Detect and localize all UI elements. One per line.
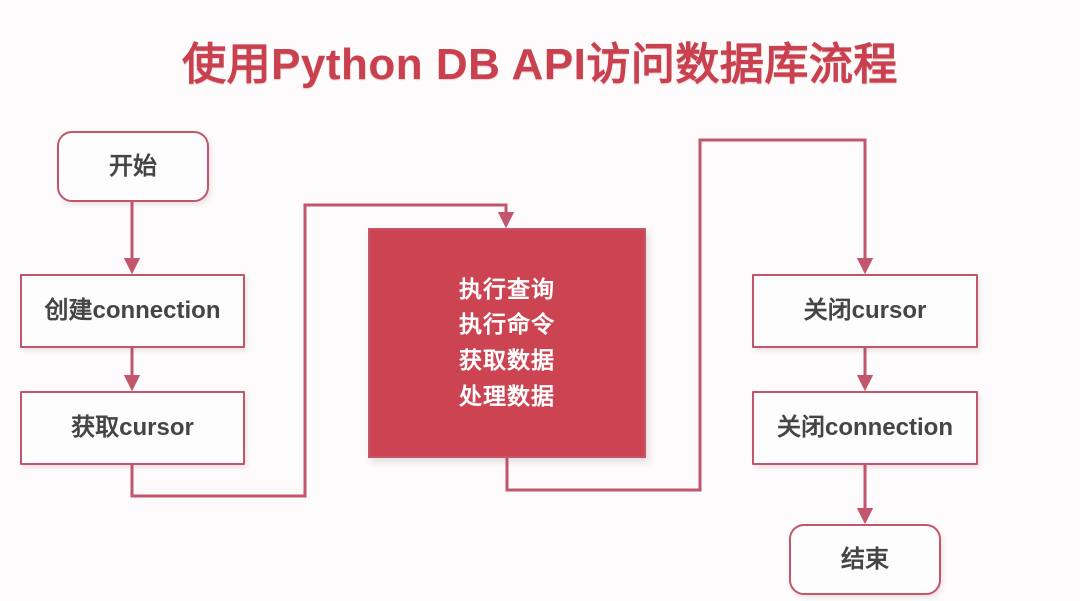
node-create-connection-label: 创建connection: [44, 297, 220, 325]
node-operations-line-1: 执行查询: [459, 272, 555, 308]
node-end-label: 结束: [841, 546, 889, 574]
node-close-cursor-label: 关闭cursor: [804, 297, 927, 325]
node-close-connection[interactable]: 关闭connection: [752, 391, 978, 465]
node-close-connection-label: 关闭connection: [777, 414, 953, 442]
page-title: 使用Python DB API访问数据库流程: [0, 28, 1080, 92]
node-get-cursor[interactable]: 获取cursor: [20, 391, 245, 465]
node-get-cursor-label: 获取cursor: [71, 414, 194, 442]
node-close-cursor[interactable]: 关闭cursor: [752, 274, 978, 348]
node-start-label: 开始: [109, 153, 157, 181]
node-operations-line-4: 处理数据: [459, 379, 555, 415]
node-operations-lines: 执行查询 执行命令 获取数据 处理数据: [459, 272, 555, 415]
node-operations-line-2: 执行命令: [459, 307, 555, 343]
node-start[interactable]: 开始: [57, 131, 209, 202]
node-end[interactable]: 结束: [789, 524, 941, 595]
node-operations[interactable]: 执行查询 执行命令 获取数据 处理数据: [368, 228, 646, 458]
flowchart-canvas: 使用Python DB API访问数据库流程 开始 创建connection: [0, 0, 1080, 601]
node-operations-line-3: 获取数据: [459, 343, 555, 379]
node-create-connection[interactable]: 创建connection: [20, 274, 245, 348]
